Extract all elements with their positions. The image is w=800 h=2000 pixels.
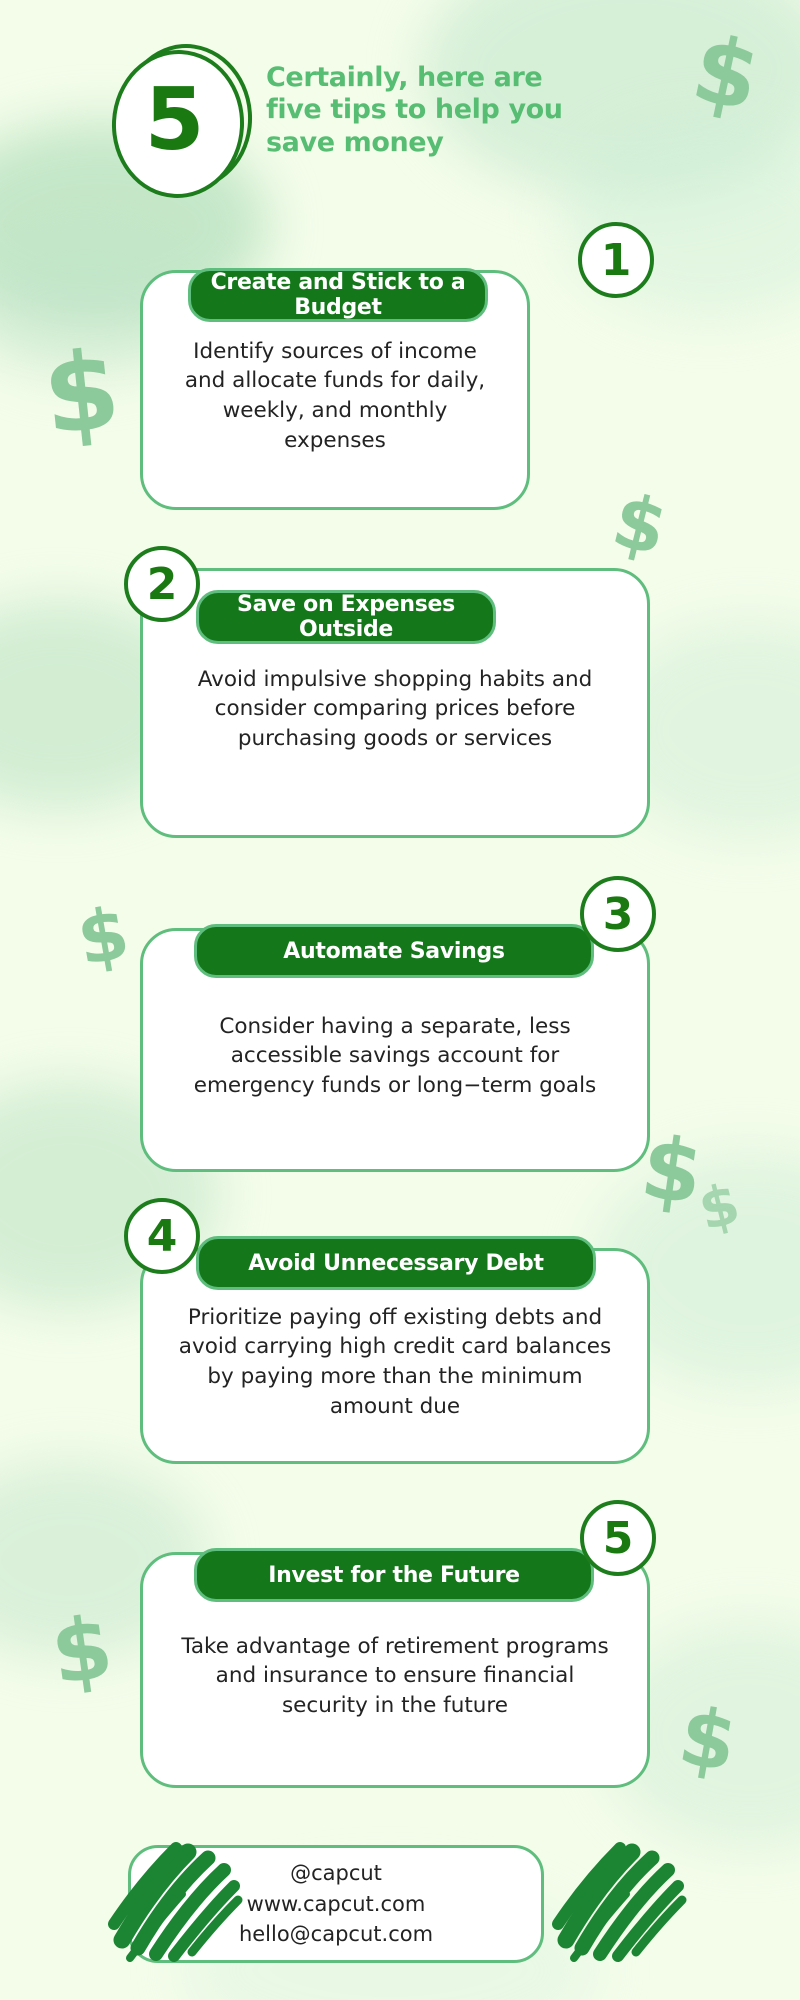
tip-badge-5: 5: [580, 1500, 656, 1576]
tip-banner-4[interactable]: Avoid Unnecessary Debt: [196, 1236, 596, 1290]
tip-badge-2: 2: [124, 546, 200, 622]
infographic-page: $ $ $ $ $ $ $ $ 5 Certainly, here are fi…: [0, 0, 800, 2000]
header-badge: 5: [112, 44, 248, 196]
page-title: Certainly, here are five tips to help yo…: [266, 62, 596, 159]
tip-badge-1: 1: [578, 222, 654, 298]
tip-number-4: 4: [147, 1211, 178, 1262]
dollar-watermark-icon: $: [694, 1176, 745, 1240]
footer-handle[interactable]: @capcut: [290, 1859, 382, 1887]
brush-scribble-right-icon: [548, 1836, 698, 1966]
tip-number-1: 1: [601, 235, 632, 286]
footer-email[interactable]: hello@capcut.com: [239, 1920, 433, 1948]
tip-number-5: 5: [603, 1513, 634, 1564]
tip-title-3: Automate Savings: [283, 939, 504, 964]
footer-website[interactable]: www.capcut.com: [247, 1890, 426, 1918]
dollar-watermark-icon: $: [39, 336, 125, 451]
tip-banner-1[interactable]: Create and Stick to a Budget: [188, 268, 488, 322]
tip-number-2: 2: [147, 559, 178, 610]
header: 5 Certainly, here are five tips to help …: [0, 44, 800, 204]
tip-banner-3[interactable]: Automate Savings: [194, 924, 594, 978]
tip-banner-2[interactable]: Save on Expenses Outside: [196, 590, 496, 644]
tip-title-4: Avoid Unnecessary Debt: [248, 1251, 543, 1276]
tip-number-3: 3: [603, 889, 634, 940]
header-badge-number: 5: [112, 50, 236, 190]
dollar-watermark-icon: $: [72, 896, 134, 976]
tip-title-2: Save on Expenses Outside: [215, 592, 477, 642]
tip-badge-3: 3: [580, 876, 656, 952]
tip-title-1: Create and Stick to a Budget: [207, 270, 469, 320]
tip-banner-5[interactable]: Invest for the Future: [194, 1548, 594, 1602]
dollar-watermark-icon: $: [673, 1696, 742, 1784]
footer-contact-box: @capcut www.capcut.com hello@capcut.com: [128, 1845, 544, 1963]
tip-badge-4: 4: [124, 1198, 200, 1274]
tip-title-5: Invest for the Future: [268, 1563, 520, 1588]
dollar-watermark-icon: $: [46, 1604, 117, 1697]
dollar-watermark-icon: $: [606, 483, 674, 567]
